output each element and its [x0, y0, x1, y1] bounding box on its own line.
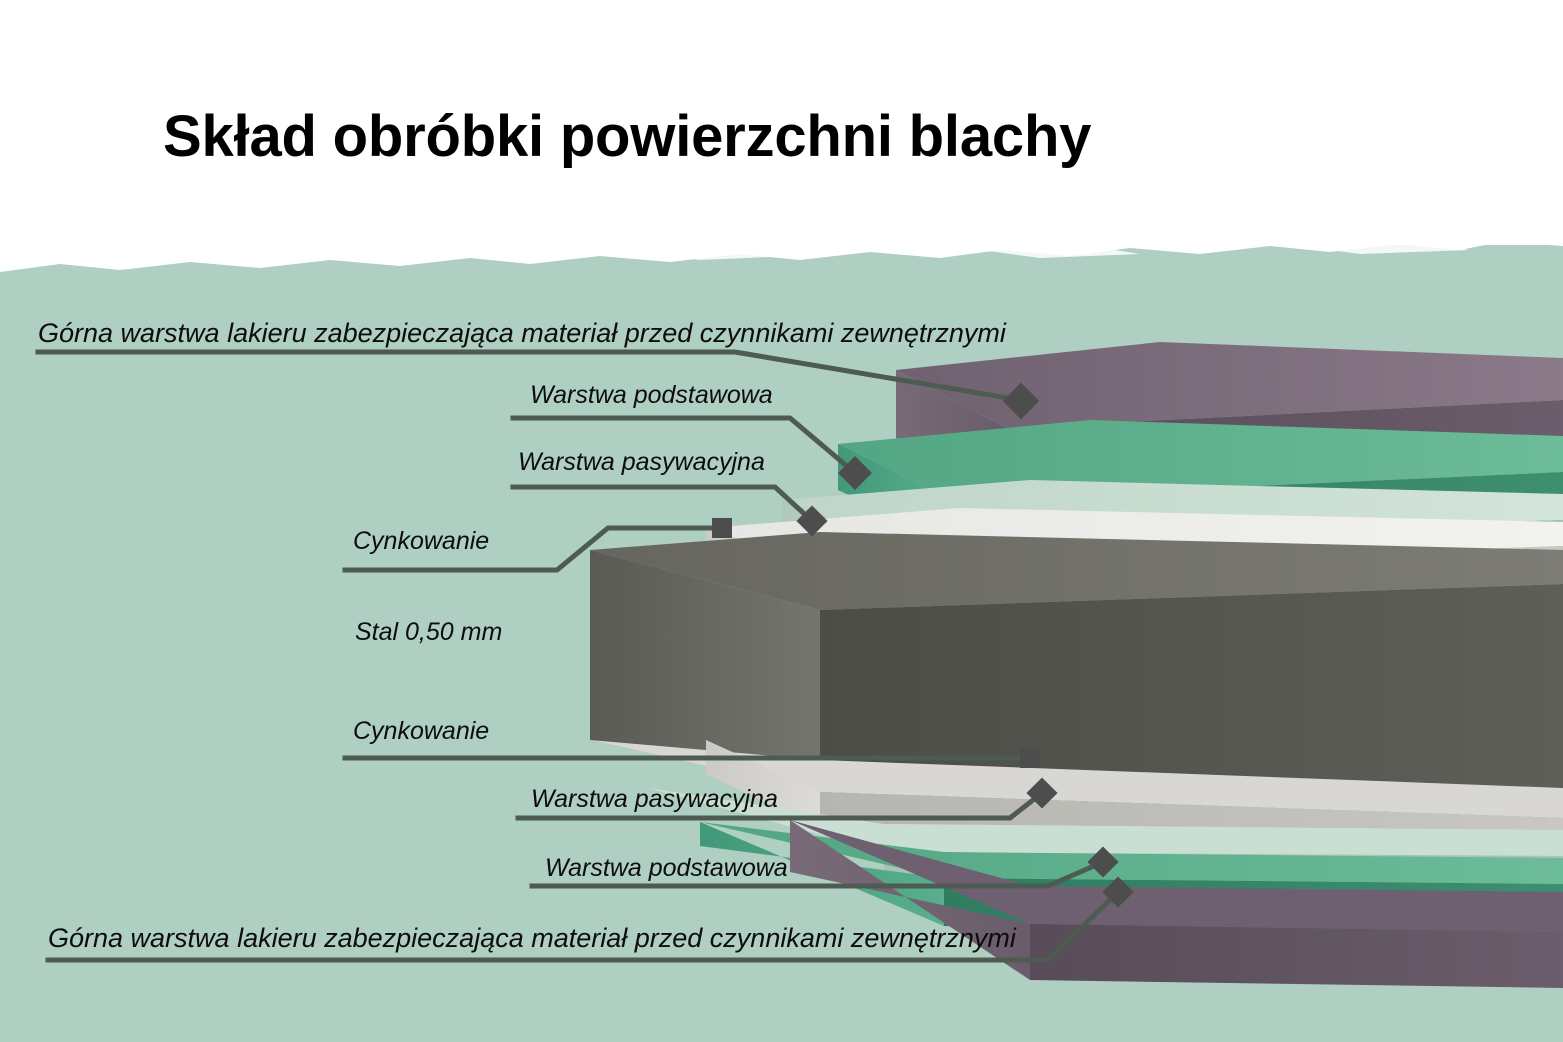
label-passivation-top: Warstwa pasywacyjna [518, 448, 765, 477]
label-zinc-bottom: Cynkowanie [353, 717, 489, 746]
label-topcoat-top: Górna warstwa lakieru zabezpieczająca ma… [38, 318, 1006, 349]
label-primer-top: Warstwa podstawowa [530, 381, 773, 410]
leader-passivation-top [513, 487, 812, 521]
leader-endpoint-markers [712, 383, 1134, 908]
label-passivation-bottom: Warstwa pasywacyjna [531, 785, 778, 814]
label-topcoat-bottom: Górna warstwa lakieru zabezpieczająca ma… [48, 923, 1016, 954]
label-primer-bottom: Warstwa podstawowa [545, 854, 788, 883]
label-zinc-top: Cynkowanie [353, 527, 489, 556]
leader-topcoat-top [38, 352, 1020, 400]
leader-lines-group [0, 0, 1563, 1042]
label-steel: Stal 0,50 mm [355, 618, 502, 647]
slide-root: Skład obróbki powierzchni blachy [0, 0, 1563, 1042]
